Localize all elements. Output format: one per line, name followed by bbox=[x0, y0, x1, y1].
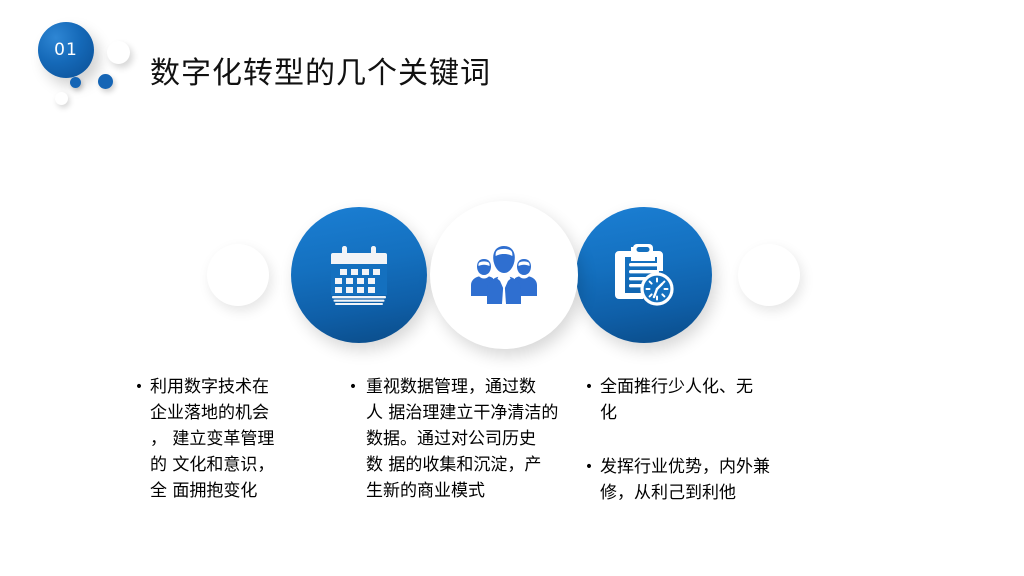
bullet-item: • 重视数据管理，通过数 人 据治理建立干净清洁的 数据。通过对公司历史 数 据… bbox=[340, 374, 575, 504]
bullet-marker: • bbox=[340, 374, 366, 400]
decorative-white-circle-large bbox=[107, 41, 130, 64]
bullet-text: 全面推行少人化、无 化 bbox=[600, 374, 858, 426]
bullet-marker: • bbox=[578, 374, 600, 400]
bullet-text: 发挥行业优势，内外兼 修，从利己到利他 bbox=[600, 454, 858, 506]
bullet-marker: • bbox=[128, 374, 150, 400]
section-number-label: 01 bbox=[54, 40, 78, 60]
icon-circle-row bbox=[0, 196, 1024, 356]
bullet-item: • 利用数字技术在 企业落地的机会 ， 建立变革管理 的 文化和意识， 全 面拥… bbox=[128, 374, 333, 504]
text-column-1: • 利用数字技术在 企业落地的机会 ， 建立变革管理 的 文化和意识， 全 面拥… bbox=[128, 374, 333, 506]
icon-circle-team[interactable] bbox=[430, 201, 578, 349]
bullet-item: • 发挥行业优势，内外兼 修，从利己到利他 bbox=[578, 454, 858, 506]
icon-circle-calendar[interactable] bbox=[291, 207, 427, 343]
decorative-outline-circle-right bbox=[738, 244, 800, 306]
text-column-2: • 重视数据管理，通过数 人 据治理建立干净清洁的 数据。通过对公司历史 数 据… bbox=[340, 374, 575, 506]
column-spacer bbox=[578, 428, 858, 454]
page-title: 数字化转型的几个关键词 bbox=[150, 48, 491, 92]
calendar-icon bbox=[291, 207, 427, 343]
bullet-text: 利用数字技术在 企业落地的机会 ， 建立变革管理 的 文化和意识， 全 面拥抱变… bbox=[150, 374, 333, 504]
slide-header: 01 数字化转型的几个关键词 bbox=[0, 0, 1024, 120]
slide-root: 01 数字化转型的几个关键词 bbox=[0, 0, 1024, 576]
decorative-blue-dot-small bbox=[70, 77, 81, 88]
decorative-white-circle-small bbox=[55, 92, 68, 105]
team-people-icon bbox=[430, 201, 578, 349]
text-column-3: • 全面推行少人化、无 化 • 发挥行业优势，内外兼 修，从利己到利他 bbox=[578, 374, 858, 508]
decorative-outline-circle-left bbox=[207, 244, 269, 306]
section-number-badge: 01 bbox=[38, 22, 94, 78]
icon-circle-clipboard-clock[interactable] bbox=[576, 207, 712, 343]
bullet-text: 重视数据管理，通过数 人 据治理建立干净清洁的 数据。通过对公司历史 数 据的收… bbox=[366, 374, 575, 504]
clipboard-clock-icon bbox=[576, 207, 712, 343]
bullet-marker: • bbox=[578, 454, 600, 480]
bullet-item: • 全面推行少人化、无 化 bbox=[578, 374, 858, 426]
content-columns: • 利用数字技术在 企业落地的机会 ， 建立变革管理 的 文化和意识， 全 面拥… bbox=[0, 374, 1024, 554]
decorative-blue-dot-medium bbox=[98, 74, 113, 89]
